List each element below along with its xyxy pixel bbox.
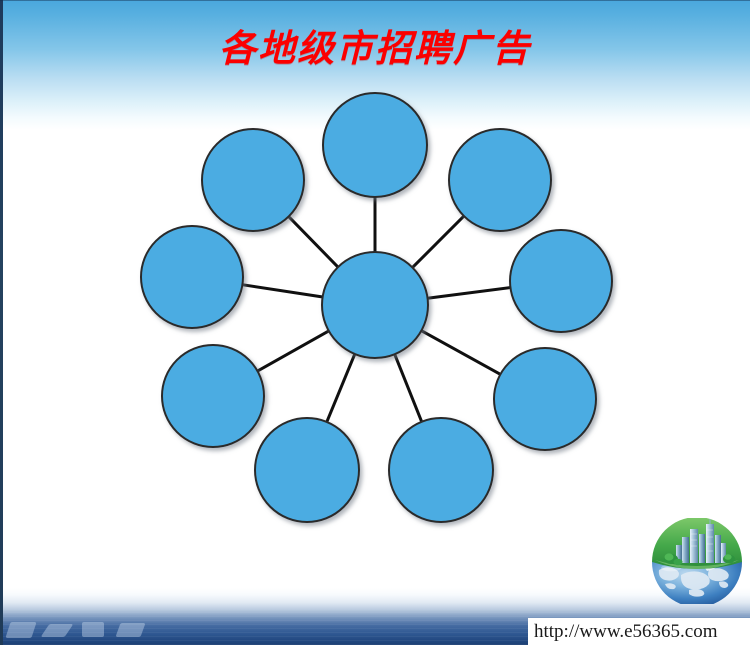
spoke-line-node-upper-right: [412, 215, 465, 268]
node-bottom-right-shape[interactable]: [389, 418, 493, 522]
spoke-line-node-bottom-right: [394, 353, 422, 422]
node-top-shape[interactable]: [323, 93, 427, 197]
node-bottom-right[interactable]: [389, 418, 493, 522]
node-right[interactable]: [510, 230, 612, 332]
spoke-line-node-right: [427, 287, 512, 298]
node-left-shape[interactable]: [141, 226, 243, 328]
node-upper-left[interactable]: [202, 129, 304, 231]
watermark-bar: http://www.e56365.com: [528, 618, 750, 645]
slide-canvas: 各地级市招聘广告: [0, 0, 750, 645]
node-lower-right-shape[interactable]: [494, 348, 596, 450]
spoke-line-node-lower-right: [421, 330, 502, 375]
spoke-line-node-lower-left: [257, 330, 330, 371]
earth-city-globe-icon: [645, 518, 749, 604]
node-lower-left[interactable]: [162, 345, 264, 447]
spoke-line-node-upper-left: [288, 216, 339, 268]
node-top[interactable]: [323, 93, 427, 197]
nodes-layer: [141, 93, 612, 522]
node-upper-right[interactable]: [449, 129, 551, 231]
node-upper-left-shape[interactable]: [202, 129, 304, 231]
spoke-line-node-bottom-left: [326, 353, 355, 423]
node-right-shape[interactable]: [510, 230, 612, 332]
watermark-url: http://www.e56365.com: [528, 621, 717, 643]
node-bottom-left[interactable]: [255, 418, 359, 522]
spoke-line-node-left: [241, 285, 323, 298]
node-upper-right-shape[interactable]: [449, 129, 551, 231]
radial-node-diagram: [0, 0, 750, 645]
hub-node[interactable]: [322, 252, 428, 358]
node-lower-right[interactable]: [494, 348, 596, 450]
hub-node-shape[interactable]: [322, 252, 428, 358]
diagram-svg: [0, 0, 750, 645]
node-bottom-left-shape[interactable]: [255, 418, 359, 522]
node-lower-left-shape[interactable]: [162, 345, 264, 447]
node-left[interactable]: [141, 226, 243, 328]
